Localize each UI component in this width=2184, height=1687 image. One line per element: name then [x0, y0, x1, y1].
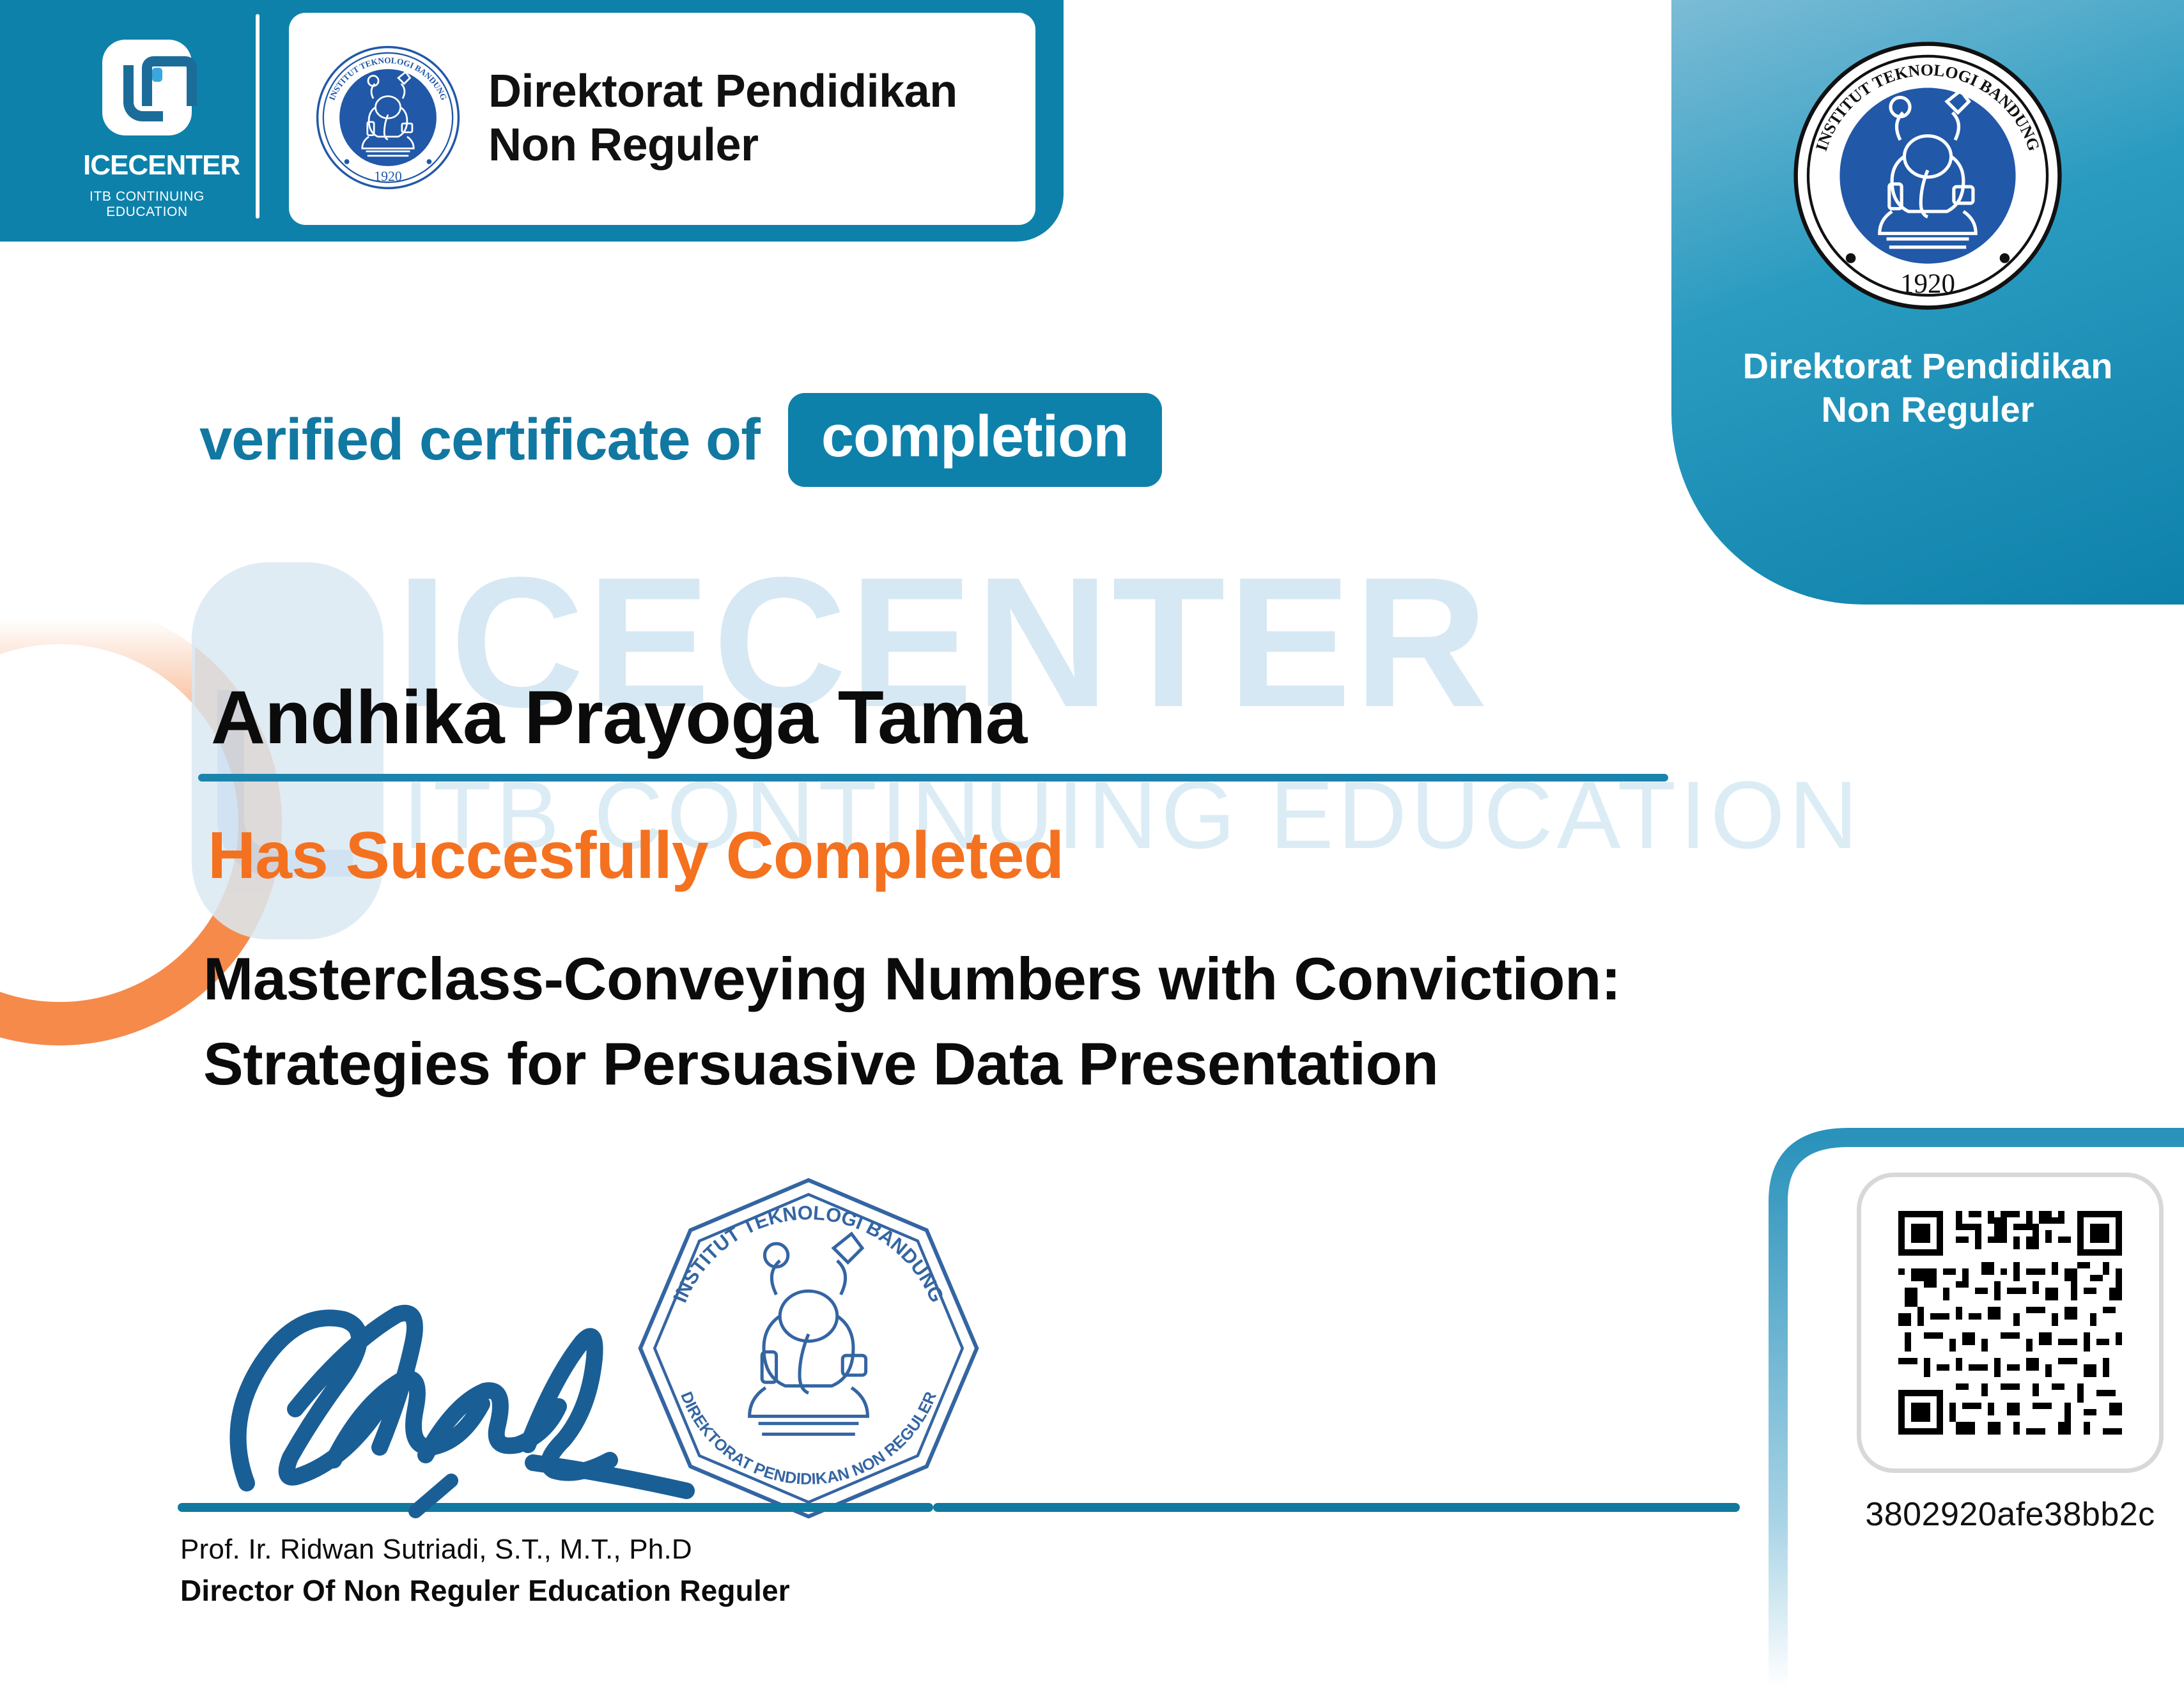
panel-line-1: Direktorat Pendidikan	[1671, 344, 2184, 388]
svg-text:1920: 1920	[1900, 269, 1955, 299]
verification-hash: 3802920afe38bb2c	[1841, 1495, 2180, 1534]
certificate-type-line: verified certificate of completion	[199, 393, 1162, 487]
certificate-lead-text: verified certificate of	[199, 406, 760, 474]
directorate-text: Direktorat Pendidikan Non Reguler	[488, 65, 957, 172]
panel-directorate-text: Direktorat Pendidikan Non Reguler	[1671, 344, 2184, 432]
signature-rule-right	[933, 1503, 1740, 1512]
recipient-underline	[198, 774, 1668, 782]
course-title: Masterclass-Conveying Numbers with Convi…	[203, 936, 1865, 1107]
completion-statement: Has Succesfully Completed	[208, 818, 1064, 894]
signature-image	[211, 1268, 722, 1524]
ice-center-name: ICECENTER	[83, 150, 211, 181]
directorate-line-1: Direktorat Pendidikan	[488, 65, 957, 119]
monogram-p-stroke	[142, 56, 197, 106]
monogram-dot	[152, 68, 162, 82]
qr-code-card[interactable]	[1857, 1173, 2164, 1473]
certificate-type-badge: completion	[788, 393, 1162, 487]
signer-name: Prof. Ir. Ridwan Sutriadi, S.T., M.T., P…	[180, 1534, 692, 1566]
directorate-line-2: Non Reguler	[488, 119, 957, 173]
header-divider	[256, 14, 259, 219]
itb-seal-icon: INSTITUT TEKNOLOGI BANDUNG 1920	[314, 44, 461, 194]
certificate-page: ICECENTER ITB CONTINUING EDUCATION ICECE…	[0, 0, 2184, 1687]
ice-center-logo: ICECENTER ITB CONTINUING EDUCATION	[83, 40, 211, 225]
qr-code[interactable]	[1892, 1205, 2128, 1441]
itb-seal-large-icon: INSTITUT TEKNOLOGI BANDUNG 1920	[1671, 38, 2184, 316]
right-header-panel: INSTITUT TEKNOLOGI BANDUNG 1920 Direktor…	[1671, 0, 2184, 605]
watermark-group: ICECENTER ITB CONTINUING EDUCATION	[192, 575, 1917, 971]
recipient-name: Andhika Prayoga Tama	[211, 674, 1026, 761]
signer-title: Director Of Non Reguler Education Regule…	[180, 1573, 790, 1608]
ice-center-monogram-icon	[102, 40, 192, 135]
ice-center-tagline: ITB CONTINUING EDUCATION	[83, 189, 211, 220]
panel-line-2: Non Reguler	[1671, 388, 2184, 431]
directorate-card: INSTITUT TEKNOLOGI BANDUNG 1920 Direktor…	[289, 13, 1035, 225]
svg-text:1920: 1920	[374, 168, 402, 183]
